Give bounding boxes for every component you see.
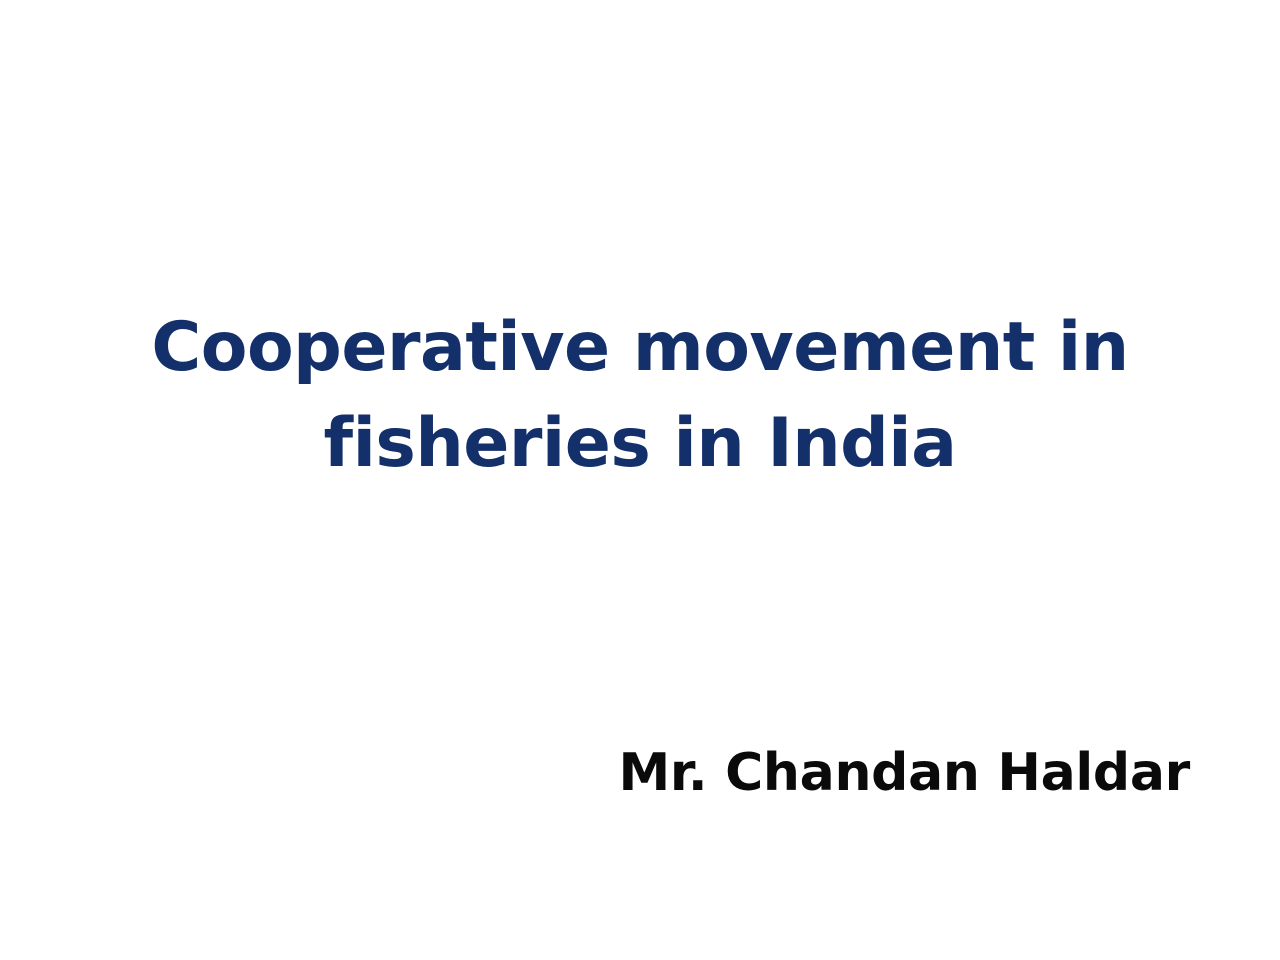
author-name-text: Mr. Chandan Haldar bbox=[618, 742, 1190, 804]
presentation-title-slide: Cooperative movement in fisheries in Ind… bbox=[0, 0, 1280, 960]
slide-title-line-1: Cooperative movement in bbox=[128, 300, 1152, 396]
slide-title-line-2: fisheries in India bbox=[128, 396, 1152, 492]
slide-author: Mr. Chandan Haldar bbox=[128, 742, 1190, 804]
slide-title: Cooperative movement in fisheries in Ind… bbox=[128, 300, 1152, 492]
